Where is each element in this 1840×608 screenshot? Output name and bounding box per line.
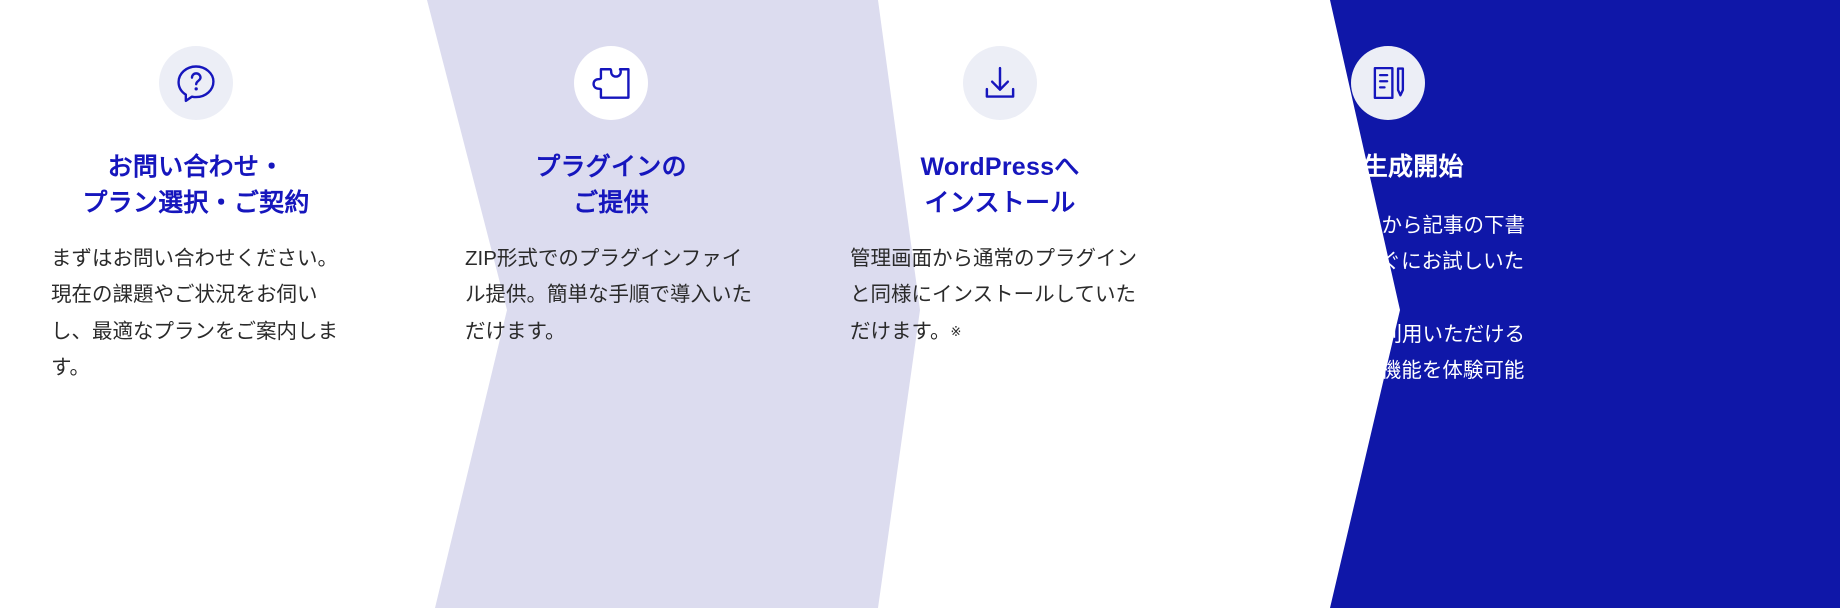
flow-step-1: お問い合わせ・ プラン選択・ご契約 まずはお問い合わせください。現在の課題やご状… xyxy=(40,0,352,608)
flow-step-description: 管理画面から通常のプラグインと同様にインストールしていただけます。※ xyxy=(850,241,1150,350)
flow-step-note: ※ xyxy=(950,324,961,339)
flow-step-description: まずはお問い合わせください。現在の課題やご状況をお伺いし、最適なプランをご案内し… xyxy=(51,241,341,387)
flow-step-title: プラグインの ご提供 xyxy=(535,150,687,221)
flow-step-3: WordPressへ インストール 管理画面から通常のプラグインと同様にインスト… xyxy=(840,0,1160,608)
flow-step-title: WordPressへ インストール xyxy=(920,150,1079,221)
puzzle-piece-icon xyxy=(574,46,648,120)
flow-steps-banner: お問い合わせ・ プラン選択・ご契約 まずはお問い合わせください。現在の課題やご状… xyxy=(0,0,1840,608)
flow-step-2: プラグインの ご提供 ZIP形式でのプラグインファイル提供。簡単な手順で導入いた… xyxy=(455,0,767,608)
flow-step-4: 記事生成開始 キーワード入力から記事の下書き生成まで、すぐにお試しいただけます。… xyxy=(1228,0,1548,608)
question-speech-bubble-icon xyxy=(159,46,233,120)
flow-step-title: 記事生成開始 xyxy=(1312,150,1464,186)
document-pen-icon xyxy=(1351,46,1425,120)
download-icon xyxy=(963,46,1037,120)
flow-step-description: キーワード入力から記事の下書き生成まで、すぐにお試しいただけます。 初月は無料で… xyxy=(1238,208,1538,427)
flow-step-description: ZIP形式でのプラグインファイル提供。簡単な手順で導入いただけます。 xyxy=(465,241,757,350)
flow-step-description-text: 管理画面から通常のプラグインと同様にインストールしていただけます。 xyxy=(850,247,1137,343)
flow-step-title: お問い合わせ・ プラン選択・ご契約 xyxy=(82,150,309,221)
